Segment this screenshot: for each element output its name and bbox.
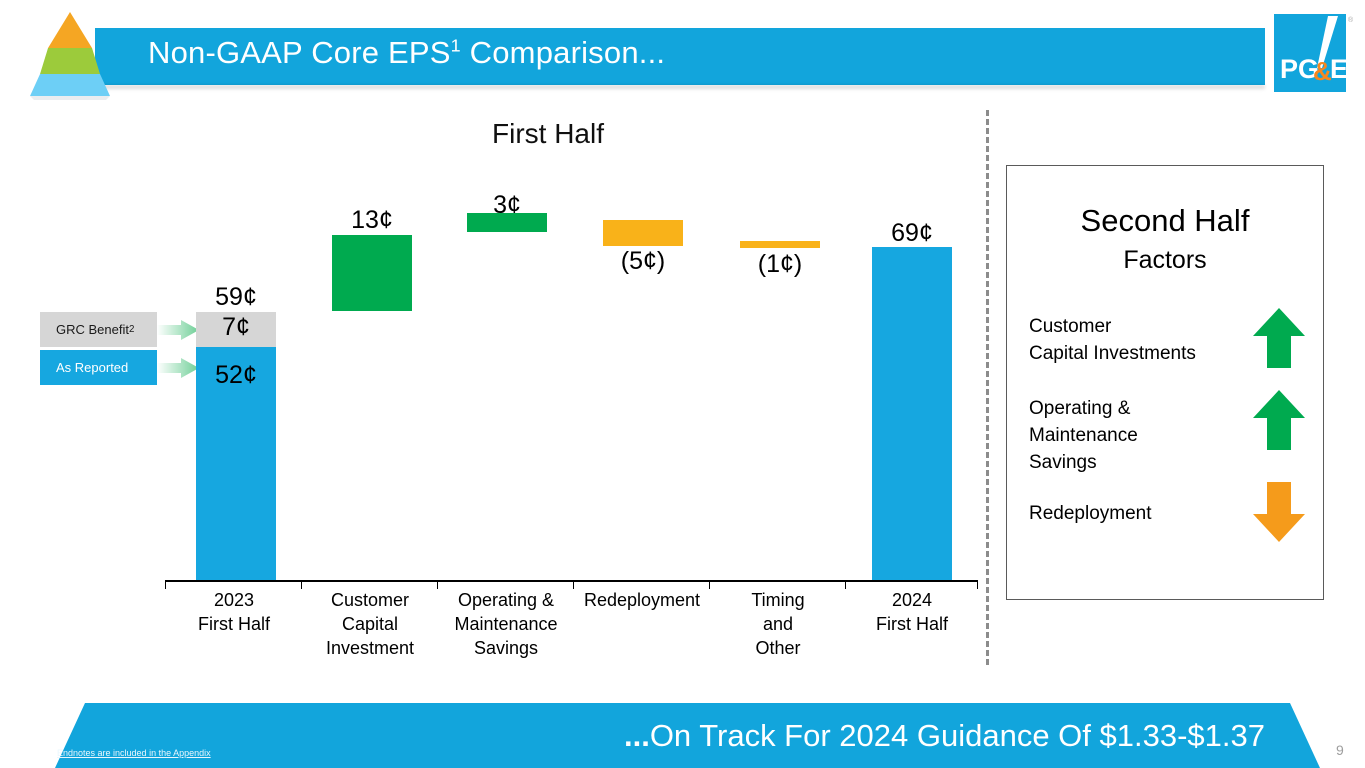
bar-label-13c: 13¢	[332, 206, 412, 235]
axis-label-line: First Half	[166, 612, 302, 636]
page-title-superscript: 1	[451, 36, 461, 56]
endnotes-link[interactable]: Endnotes are included in the Appendix	[57, 748, 211, 758]
bar-label-5c: (5¢)	[603, 247, 683, 276]
axis-label-line: Maintenance	[438, 612, 574, 636]
svg-text:&: &	[1313, 56, 1332, 86]
legend-grc-superscript: 2	[129, 324, 134, 335]
bar-redeployment	[603, 220, 683, 246]
page-title-suffix: Comparison...	[461, 35, 665, 70]
axis-label-line: Investment	[302, 636, 438, 660]
arrow-up-icon	[1252, 306, 1306, 370]
bar-label-as-reported-52c: 52¢	[196, 361, 276, 390]
bar-label-1c: (1¢)	[740, 250, 820, 279]
title-banner-shadow	[99, 85, 1265, 89]
axis-label-line: Capital	[302, 612, 438, 636]
legend-arrow-grc-icon	[157, 319, 199, 341]
banner-headline: ...On Track For 2024 Guidance Of $1.33-$…	[624, 718, 1265, 754]
chart-title: First Half	[420, 118, 676, 150]
banner-headline-text: On Track For 2024 Guidance Of $1.33-$1.3…	[650, 718, 1265, 753]
page-number: 9	[1336, 742, 1344, 758]
axis-label-line: Customer	[302, 588, 438, 612]
factor-line: Customer	[1029, 313, 1254, 340]
factor-operating-maintenance-savings: Operating & Maintenance Savings	[1029, 395, 1254, 476]
pge-logo: PG & E ®	[1268, 8, 1358, 100]
bar-2024-first-half	[872, 247, 952, 580]
axis-label-redeployment: Redeployment	[574, 588, 710, 612]
axis-label-customer-capital-investment: Customer Capital Investment	[302, 588, 438, 660]
axis-label-line: 2023	[166, 588, 302, 612]
svg-text:E: E	[1330, 54, 1348, 84]
axis-label-2024-first-half: 2024 First Half	[846, 588, 978, 636]
svg-text:®: ®	[1348, 16, 1354, 24]
legend-as-reported: As Reported	[40, 350, 157, 385]
bar-label-grc-7c: 7¢	[196, 313, 276, 342]
axis-label-line: First Half	[846, 612, 978, 636]
factor-line: Maintenance	[1029, 422, 1254, 449]
axis-label-line: Savings	[438, 636, 574, 660]
axis-label-line: 2024	[846, 588, 978, 612]
legend-grc-label: GRC Benefit	[56, 322, 129, 337]
factor-line: Operating &	[1029, 395, 1254, 422]
factor-line: Capital Investments	[1029, 340, 1254, 367]
bar-label-total-2023: 59¢	[196, 283, 276, 312]
page-title-main: Non-GAAP Core EPS	[148, 35, 451, 70]
axis-label-2023-first-half: 2023 First Half	[166, 588, 302, 636]
panel-subtitle: Factors	[1006, 246, 1324, 275]
banner-emphasis: ...	[624, 718, 650, 753]
bar-timing-and-other	[740, 241, 820, 248]
section-divider	[986, 110, 989, 665]
bar-customer-capital-investment	[332, 235, 412, 311]
axis-label-line: Operating &	[438, 588, 574, 612]
factor-line: Savings	[1029, 449, 1254, 476]
axis-label-line: Other	[710, 636, 846, 660]
arrow-down-icon	[1252, 480, 1306, 544]
chart-axis-line	[165, 580, 977, 582]
bar-operating-maintenance-savings	[467, 213, 547, 232]
axis-label-timing-and-other: Timing and Other	[710, 588, 846, 660]
legend-arrow-as-reported-icon	[157, 357, 199, 379]
panel-title: Second Half	[1006, 203, 1324, 239]
page-title: Non-GAAP Core EPS1 Comparison...	[148, 35, 665, 71]
bar-label-69c: 69¢	[872, 219, 952, 248]
axis-label-operating-maintenance-savings: Operating & Maintenance Savings	[438, 588, 574, 660]
arrow-up-icon	[1252, 388, 1306, 452]
legend-as-reported-label: As Reported	[56, 360, 128, 375]
factor-customer-capital-investments: Customer Capital Investments	[1029, 313, 1254, 367]
axis-label-line: and	[710, 612, 846, 636]
factor-redeployment: Redeployment	[1029, 500, 1254, 527]
pyramid-logo-icon	[22, 8, 118, 100]
axis-label-line: Timing	[710, 588, 846, 612]
axis-label-line: Redeployment	[574, 588, 710, 612]
legend-grc-benefit: GRC Benefit2	[40, 312, 157, 347]
factor-line: Redeployment	[1029, 500, 1254, 527]
